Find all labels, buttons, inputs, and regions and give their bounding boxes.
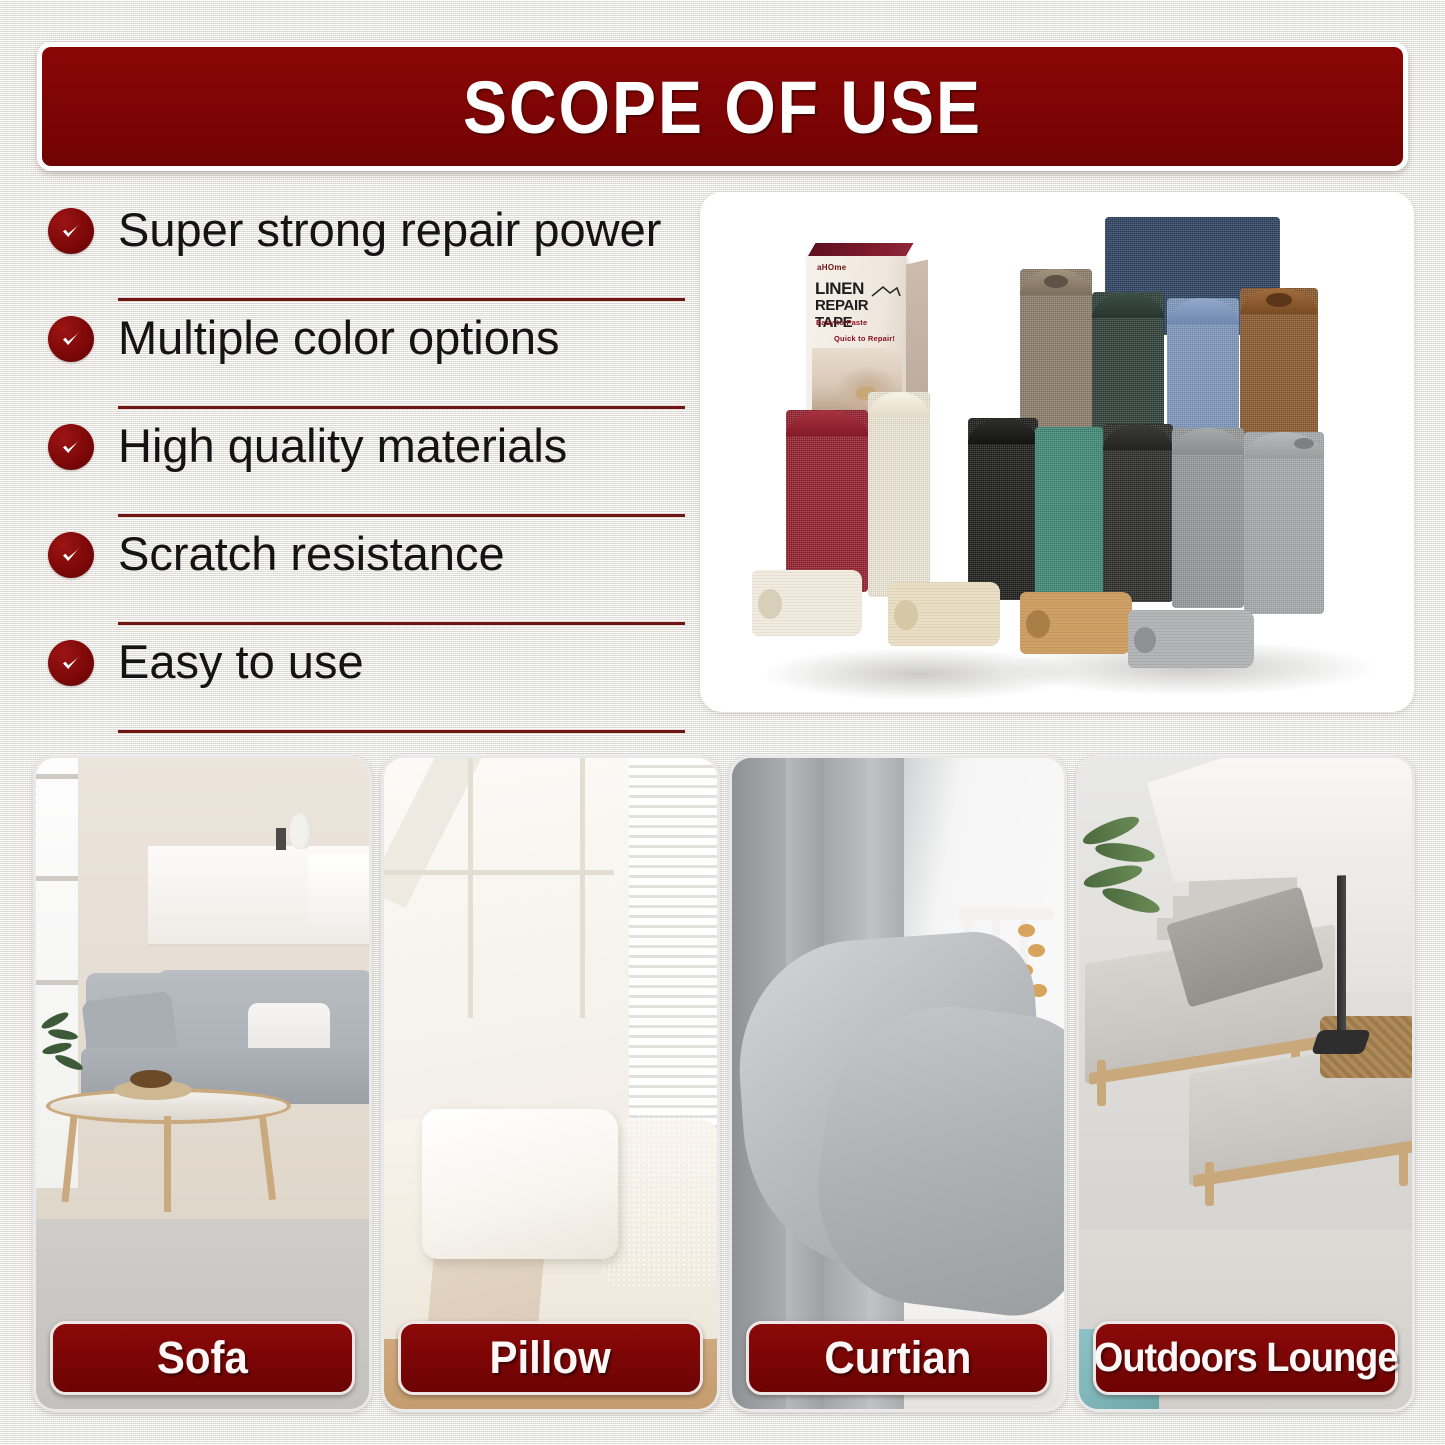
feature-label: Easy to use bbox=[118, 633, 364, 691]
feature-label: Scratch resistance bbox=[118, 525, 505, 583]
roll-top bbox=[1167, 298, 1239, 324]
check-circle-icon bbox=[48, 532, 94, 578]
product-photo: aHOme LINEN REPAIR TAPE Easy to Paste Qu… bbox=[700, 192, 1414, 712]
box-tagline-2: Quick to Repair! bbox=[834, 334, 895, 343]
box-top-cap bbox=[808, 243, 914, 256]
wall-panel-line bbox=[468, 758, 473, 1018]
linen-pillow bbox=[422, 1109, 618, 1259]
umbrella-pole bbox=[1337, 846, 1346, 1046]
panel-outdoors-lounge[interactable]: Outdoors Lounge bbox=[1076, 755, 1415, 1412]
roll-core-hole bbox=[1294, 438, 1314, 449]
sofa-scene bbox=[36, 758, 369, 1409]
panel-label-text: Outdoors Lounge bbox=[1094, 1335, 1398, 1381]
box-title-line1: LINEN bbox=[815, 279, 864, 298]
panel-label-outdoors-lounge: Outdoors Lounge bbox=[1093, 1321, 1398, 1395]
check-circle-icon bbox=[48, 316, 94, 362]
flower-petal bbox=[1018, 924, 1035, 937]
infographic-page: SCOPE OF USE Super strong repair power M… bbox=[0, 0, 1445, 1445]
roll-core-hole bbox=[758, 589, 782, 619]
plant-leaf bbox=[53, 1052, 84, 1072]
tape-roll-lying-silver bbox=[1128, 610, 1254, 668]
roll-top bbox=[968, 418, 1038, 444]
tape-roll-lying-cream bbox=[752, 570, 862, 636]
panel-label-text: Sofa bbox=[157, 1332, 248, 1384]
cabinet-shelf bbox=[308, 854, 369, 924]
header-banner: SCOPE OF USE bbox=[37, 42, 1408, 171]
window-mullion bbox=[36, 876, 78, 881]
pinecone-decor bbox=[130, 1070, 172, 1088]
roll-top bbox=[786, 410, 868, 436]
tape-rolls-scene: aHOme LINEN REPAIR TAPE Easy to Paste Qu… bbox=[700, 192, 1414, 712]
page-title: SCOPE OF USE bbox=[463, 64, 982, 149]
check-circle-icon bbox=[48, 424, 94, 470]
feature-label: Multiple color options bbox=[118, 309, 560, 367]
panel-curtain[interactable]: Curtian bbox=[729, 755, 1068, 1412]
plant-leaf bbox=[47, 1027, 78, 1041]
lounger-leg bbox=[1205, 1162, 1214, 1206]
check-circle-icon bbox=[48, 208, 94, 254]
armchair-arm bbox=[603, 1109, 720, 1289]
roll-top bbox=[1092, 292, 1164, 318]
roll-core-hole bbox=[1266, 293, 1292, 307]
panel-sofa[interactable]: Sofa bbox=[33, 755, 372, 1412]
feature-label: Super strong repair power bbox=[118, 201, 661, 259]
table-leg bbox=[164, 1116, 171, 1212]
panel-label-sofa: Sofa bbox=[50, 1321, 355, 1395]
wall-panel-line bbox=[384, 870, 614, 875]
window-mullion bbox=[36, 980, 78, 985]
roll-top bbox=[1103, 424, 1173, 450]
table-legs bbox=[60, 1116, 280, 1216]
brand-logo: aHOme bbox=[817, 263, 847, 272]
tape-roll-red bbox=[786, 410, 868, 592]
tape-roll-ivory bbox=[868, 392, 930, 597]
decor-object bbox=[276, 828, 286, 850]
feature-item: High quality materials bbox=[40, 409, 685, 517]
roll-core-hole bbox=[894, 600, 918, 630]
roll-top bbox=[1035, 427, 1103, 453]
tape-roll-black bbox=[968, 418, 1038, 600]
roll-top bbox=[868, 392, 930, 418]
roll-top bbox=[1172, 428, 1244, 454]
tape-roll-lying-beige bbox=[888, 582, 1000, 646]
table-leg bbox=[62, 1116, 78, 1202]
plant-leaf bbox=[1094, 840, 1156, 865]
feature-item: Scratch resistance bbox=[40, 517, 685, 625]
table-leg bbox=[259, 1116, 276, 1200]
panel-label-curtain: Curtian bbox=[746, 1321, 1051, 1395]
panel-pillow[interactable]: Pillow bbox=[381, 755, 720, 1412]
tape-roll-lying-tan bbox=[1020, 592, 1132, 654]
house-roof-icon bbox=[870, 284, 902, 298]
tape-roll-charcoal bbox=[1103, 424, 1173, 602]
feature-item: Super strong repair power bbox=[40, 193, 685, 301]
tape-roll-lightgrey bbox=[1244, 432, 1324, 614]
pillow-scene bbox=[384, 758, 717, 1409]
patio-umbrella bbox=[1147, 755, 1415, 882]
wall-panel-line bbox=[580, 758, 585, 1018]
window-mullion bbox=[36, 774, 78, 779]
feature-label: High quality materials bbox=[118, 417, 567, 475]
curtain-scene bbox=[732, 758, 1065, 1409]
flower-petal bbox=[1028, 944, 1045, 957]
roll-core-hole bbox=[1026, 610, 1050, 638]
outdoors-scene bbox=[1079, 758, 1412, 1409]
panel-label-text: Pillow bbox=[489, 1332, 610, 1384]
plant-leaf bbox=[1100, 883, 1162, 918]
roll-core-hole bbox=[1044, 275, 1068, 288]
check-circle-icon bbox=[48, 640, 94, 686]
tape-roll-teal bbox=[1035, 427, 1103, 599]
use-case-panels: Sofa Pillow bbox=[33, 755, 1415, 1412]
roll-core-hole bbox=[1134, 627, 1156, 653]
tape-roll-grey bbox=[1172, 428, 1244, 608]
panel-label-pillow: Pillow bbox=[398, 1321, 703, 1395]
panel-label-text: Curtian bbox=[824, 1332, 971, 1384]
lounger-leg bbox=[1399, 1142, 1408, 1186]
decor-vase bbox=[290, 813, 312, 849]
box-tagline-1: Easy to Paste bbox=[816, 318, 867, 327]
feature-item: Easy to use bbox=[40, 625, 685, 733]
feature-item: Multiple color options bbox=[40, 301, 685, 409]
potted-plant bbox=[40, 1008, 96, 1083]
feature-list: Super strong repair power Multiple color… bbox=[40, 193, 685, 733]
feature-divider bbox=[118, 730, 685, 733]
lounger-leg bbox=[1097, 1060, 1106, 1106]
umbrella-base bbox=[1311, 1030, 1371, 1054]
